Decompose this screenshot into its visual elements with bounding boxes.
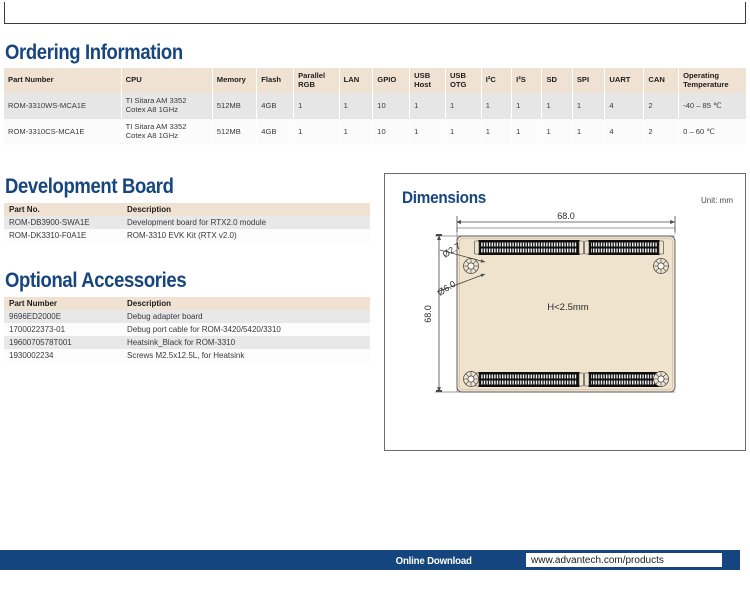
cell-i2s: 1 xyxy=(512,119,542,145)
table-row: 9696ED2000E Debug adapter board xyxy=(4,310,370,323)
cell-part-no: ROM-DB3900-SWA1E xyxy=(4,216,122,229)
cell-uart: 4 xyxy=(605,93,644,119)
cell-description: Development board for RTX2.0 module xyxy=(122,216,370,229)
col-part-number: Part Number xyxy=(4,297,122,310)
table-header-row: Part Number Description xyxy=(4,297,370,310)
cell-gpio: 10 xyxy=(373,93,410,119)
table-row: ROM-3310CS-MCA1E TI Sitara AM 3352 Cotex… xyxy=(4,119,746,145)
table-row: ROM-DB3900-SWA1E Development board for R… xyxy=(4,216,370,229)
cell-sd: 1 xyxy=(542,119,572,145)
cell-usb-host: 1 xyxy=(410,93,446,119)
cell-parallel-rgb: 1 xyxy=(294,93,340,119)
cell-memory: 512MB xyxy=(212,93,256,119)
cell-usb-otg: 1 xyxy=(445,93,481,119)
cell-part-number: 1700022373-01 xyxy=(4,323,122,336)
cell-part-number: 1930002234 xyxy=(4,349,122,362)
table-header-row: Part No. Description xyxy=(4,203,370,216)
cell-flash: 4GB xyxy=(257,93,294,119)
cell-lan: 1 xyxy=(339,93,373,119)
col-flash: Flash xyxy=(257,68,294,93)
cell-flash: 4GB xyxy=(257,119,294,145)
col-i2s: I²S xyxy=(512,68,542,93)
col-spi: SPI xyxy=(572,68,605,93)
cell-operating-temperature: -40 – 85 ℃ xyxy=(679,93,746,119)
cell-part-number: 9696ED2000E xyxy=(4,310,122,323)
cell-parallel-rgb: 1 xyxy=(294,119,340,145)
cell-memory: 512MB xyxy=(212,119,256,145)
table-row: ROM-3310WS-MCA1E TI Sitara AM 3352 Cotex… xyxy=(4,93,746,119)
col-description: Description xyxy=(122,203,370,216)
cell-operating-temperature: 0 – 60 ℃ xyxy=(679,119,746,145)
cell-usb-host: 1 xyxy=(410,119,446,145)
cell-description: Heatsink_Black for ROM-3310 xyxy=(122,336,370,349)
cell-part-no: ROM-DK3310-F0A1E xyxy=(4,229,122,242)
section-heading-optional-accessories: Optional Accessories xyxy=(5,270,186,291)
board-thickness-label: H<2.5mm xyxy=(547,302,589,313)
col-parallel-rgb-label: Parallel RGB xyxy=(298,71,325,89)
development-board-table: Part No. Description ROM-DB3900-SWA1E De… xyxy=(4,203,370,242)
cell-spi: 1 xyxy=(572,119,605,145)
cell-description: ROM-3310 EVK Kit (RTX v2.0) xyxy=(122,229,370,242)
optional-accessories-table: Part Number Description 9696ED2000E Debu… xyxy=(4,297,370,362)
cell-description: Debug port cable for ROM-3420/5420/3310 xyxy=(122,323,370,336)
cell-i2c: 1 xyxy=(481,119,511,145)
top-cutoff-box xyxy=(4,2,746,24)
table-row: 1930002234 Screws M2.5x12.5L, for Heatsi… xyxy=(4,349,370,362)
col-gpio: GPIO xyxy=(373,68,410,93)
col-usb-host: USB Host xyxy=(410,68,446,93)
cell-cpu: TI Sitara AM 3352 Cotex A8 1GHz xyxy=(121,93,212,119)
section-heading-ordering: Ordering Information xyxy=(5,42,183,63)
ordering-information-table: Part Number CPU Memory Flash Parallel RG… xyxy=(4,68,746,145)
cell-i2c: 1 xyxy=(481,93,511,119)
col-can: CAN xyxy=(644,68,679,93)
cell-i2s: 1 xyxy=(512,93,542,119)
col-lan: LAN xyxy=(339,68,373,93)
col-uart: UART xyxy=(605,68,644,93)
cell-part-number: 1960070578T001 xyxy=(4,336,122,349)
col-parallel-rgb: Parallel RGB xyxy=(294,68,340,93)
cell-gpio: 10 xyxy=(373,119,410,145)
cell-can: 2 xyxy=(644,119,679,145)
height-dimension-label: 68.0 xyxy=(423,305,433,323)
cell-cpu: TI Sitara AM 3352 Cotex A8 1GHz xyxy=(121,119,212,145)
cell-can: 2 xyxy=(644,93,679,119)
footer-online-download-label: Online Download xyxy=(396,555,472,567)
cell-usb-otg: 1 xyxy=(445,119,481,145)
col-cpu: CPU xyxy=(121,68,212,93)
datasheet-page: Ordering Information Part Number CPU Mem… xyxy=(0,0,750,591)
col-part-no: Part No. xyxy=(4,203,122,216)
footer-url-text[interactable]: www.advantech.com/products xyxy=(531,555,664,566)
dimensions-panel: Dimensions Unit: mm xyxy=(384,173,746,451)
col-i2c: I²C xyxy=(481,68,511,93)
cell-description: Screws M2.5x12.5L, for Heatsink xyxy=(122,349,370,362)
cell-description: Debug adapter board xyxy=(122,310,370,323)
table-row: 1960070578T001 Heatsink_Black for ROM-33… xyxy=(4,336,370,349)
width-dimension-label: 68.0 xyxy=(557,211,575,221)
table-row: ROM-DK3310-F0A1E ROM-3310 EVK Kit (RTX v… xyxy=(4,229,370,242)
cell-spi: 1 xyxy=(572,93,605,119)
col-memory: Memory xyxy=(212,68,256,93)
col-part-number: Part Number xyxy=(4,68,121,93)
cell-part-number: ROM-3310CS-MCA1E xyxy=(4,119,121,145)
cell-uart: 4 xyxy=(605,119,644,145)
section-heading-development-board: Development Board xyxy=(5,176,174,197)
col-sd: SD xyxy=(542,68,572,93)
table-row: 1700022373-01 Debug port cable for ROM-3… xyxy=(4,323,370,336)
board-dimension-drawing: Ø2.7 Ø6.0 68.0 68.0 H<2.5mm xyxy=(385,174,747,452)
table-header-row: Part Number CPU Memory Flash Parallel RG… xyxy=(4,68,746,93)
col-usb-otg: USB OTG xyxy=(445,68,481,93)
cell-part-number: ROM-3310WS-MCA1E xyxy=(4,93,121,119)
col-operating-temperature: Operating Temperature xyxy=(679,68,746,93)
cell-lan: 1 xyxy=(339,119,373,145)
cell-sd: 1 xyxy=(542,93,572,119)
col-description: Description xyxy=(122,297,370,310)
